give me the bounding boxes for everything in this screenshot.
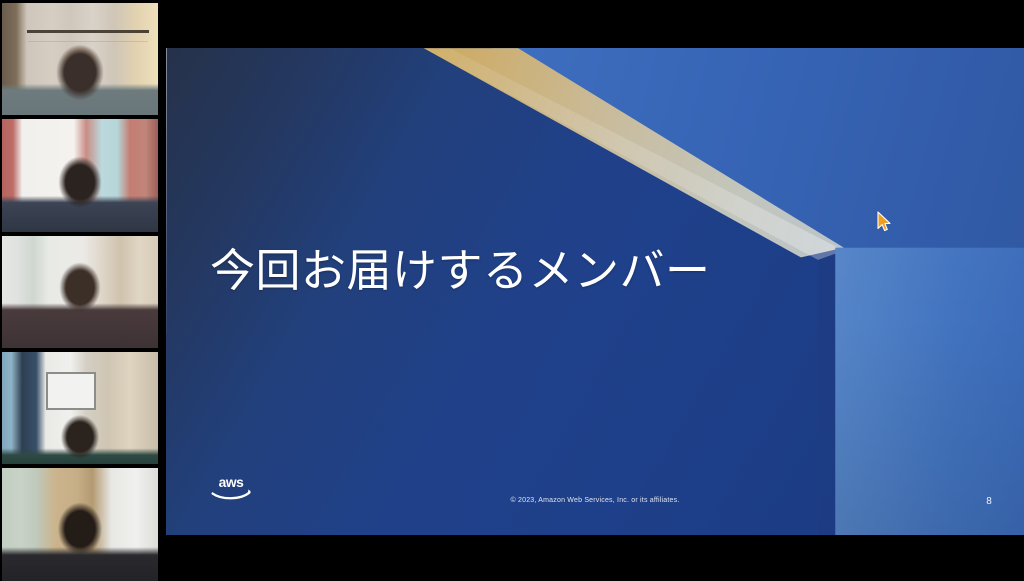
participant-tile-5[interactable]: man in blazer, green-grey room with door <box>2 468 158 581</box>
participant-tile-3[interactable]: man wearing red headset, white curtain b… <box>2 236 158 348</box>
participant-video-2 <box>2 119 158 232</box>
shared-slide[interactable]: 今回お届けするメンバー aws © 2023, Amazon Web Servi… <box>166 48 1024 535</box>
participant-video-1 <box>2 3 158 115</box>
participant-video-4 <box>2 352 158 464</box>
participant-tile-2[interactable]: man in dark jacket with lanyard, pink wa… <box>2 119 158 232</box>
slide-page-number: 8 <box>986 496 992 507</box>
participant-filmstrip: man in grey shirt in room with clothes r… <box>0 0 160 581</box>
participant-tile-4[interactable]: man in bedroom with monitor and blue bed <box>2 352 158 464</box>
slide-title: 今回お届けするメンバー <box>210 244 711 298</box>
svg-text:aws: aws <box>219 475 244 490</box>
slide-background-vertex-edge <box>166 48 167 335</box>
participant-video-5 <box>2 468 158 581</box>
screen-share-window: man in grey shirt in room with clothes r… <box>0 0 1024 581</box>
slide-copyright: © 2023, Amazon Web Services, Inc. or its… <box>166 497 1024 504</box>
participant-tile-1[interactable]: man in grey shirt in room with clothes r… <box>2 3 158 115</box>
participant-video-3 <box>2 236 158 348</box>
